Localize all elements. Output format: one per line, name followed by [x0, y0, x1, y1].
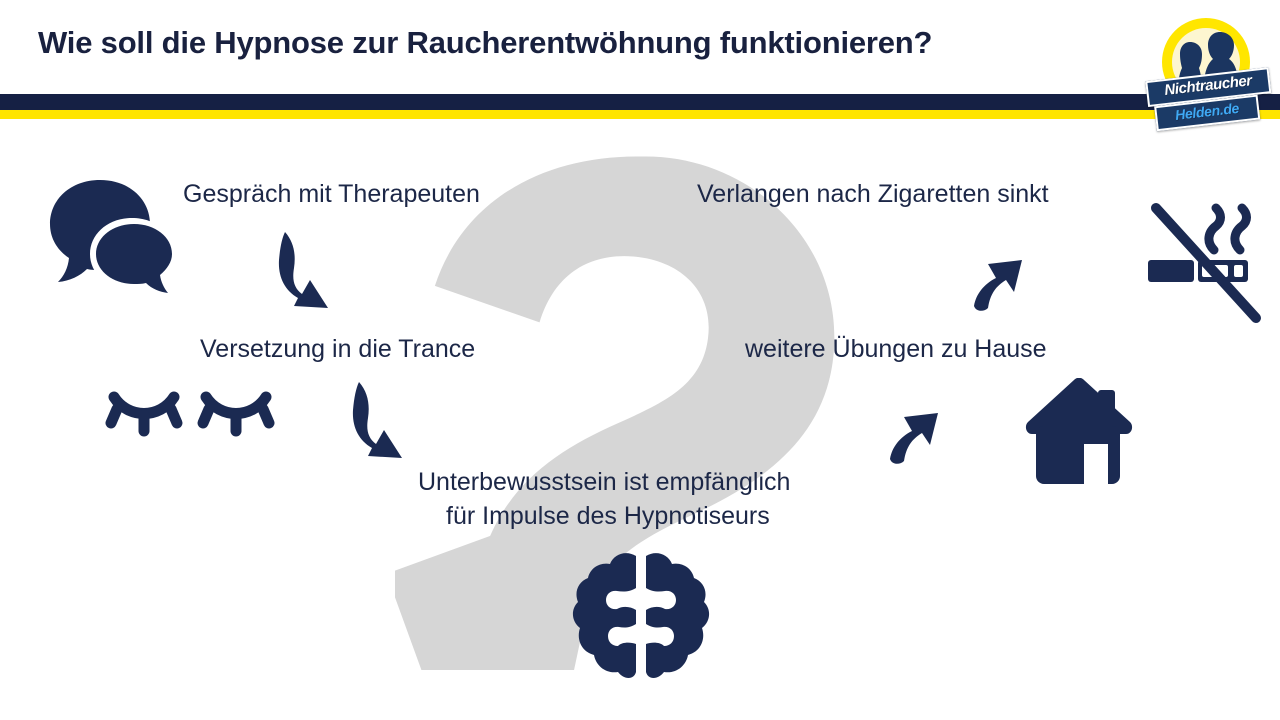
- step-2-label: Versetzung in die Trance: [200, 333, 475, 365]
- header-rule-navy: [0, 94, 1280, 110]
- no-smoking-icon: [1146, 202, 1264, 324]
- brain-icon: [572, 552, 710, 680]
- curved-arrow-up-icon: [888, 385, 958, 465]
- house-icon: [1022, 378, 1134, 486]
- curved-arrow-down-icon: [346, 380, 408, 460]
- step-4-label: weitere Übungen zu Hause: [745, 333, 1047, 365]
- step-3-label-line1: Unterbewusstsein ist empfänglich: [418, 466, 790, 498]
- nichtraucherhelden-logo[interactable]: Nichtraucher Helden.de: [1148, 18, 1270, 140]
- step-3-label-line2: für Impulse des Hypnotiseurs: [446, 500, 770, 532]
- header-rule-yellow: [0, 110, 1280, 119]
- curved-arrow-up-icon: [972, 232, 1042, 312]
- speech-bubbles-icon: [48, 178, 176, 296]
- step-5-label: Verlangen nach Zigaretten sinkt: [697, 178, 1049, 210]
- infographic-canvas: Wie soll die Hypnose zur Raucherentwöhnu…: [0, 0, 1280, 720]
- page-title: Wie soll die Hypnose zur Raucherentwöhnu…: [38, 24, 1168, 61]
- curved-arrow-down-icon: [272, 230, 334, 310]
- step-1-label: Gespräch mit Therapeuten: [183, 178, 480, 210]
- closed-eyes-icon: [104, 385, 276, 455]
